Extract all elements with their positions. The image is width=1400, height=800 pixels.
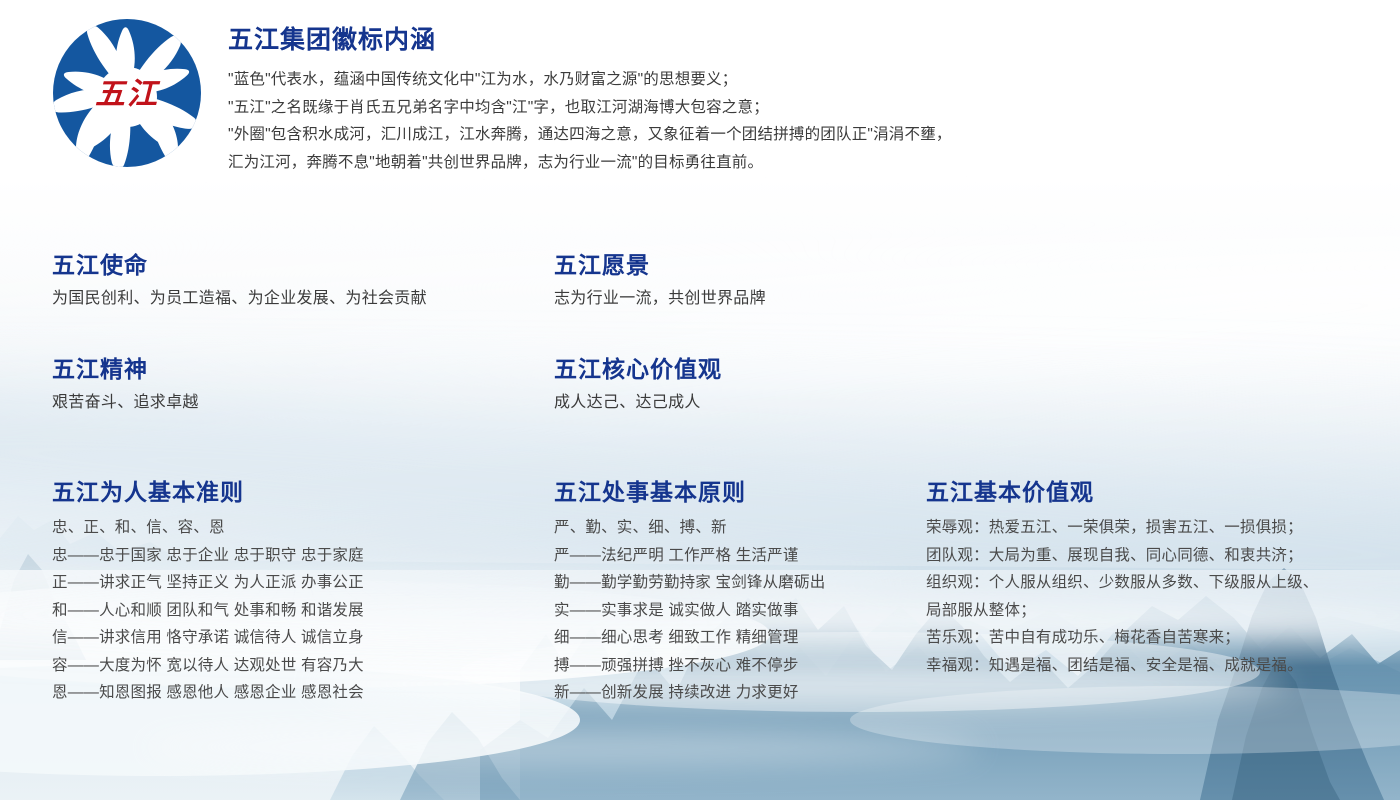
core-values-title: 五江核心价值观 [554,354,722,384]
core-values-block: 五江核心价值观 成人达己、达己成人 [554,354,722,415]
company-logo: 五江 [52,18,202,168]
column-title: 五江处事基本原则 [554,476,934,508]
column-line: 恩——知恩图报 感恩他人 感恩企业 感恩社会 [52,679,522,707]
column-line: 实——实事求是 诚实做人 踏实做事 [554,597,934,625]
vision-title: 五江愿景 [554,250,766,280]
column-line: 苦乐观：苦中自有成功乐、梅花香自苦寒来； [926,624,1386,652]
column-line: 正——讲求正气 坚持正义 为人正派 办事公正 [52,569,522,597]
page-title: 五江集团徽标内涵 [228,24,1348,56]
header-paragraph-line: 汇为江河，奔腾不息"地朝着"共创世界品牌，志为行业一流"的目标勇往直前。 [228,149,1348,177]
column-basic-values: 五江基本价值观 荣辱观：热爱五江、一荣俱荣，损害五江、一损俱损； 团队观：大局为… [926,476,1386,679]
column-line: 严——法纪严明 工作严格 生活严谨 [554,542,934,570]
column-line: 细——细心思考 细致工作 精细管理 [554,624,934,652]
mission-block: 五江使命 为国民创利、为员工造福、为企业发展、为社会贡献 [52,250,427,311]
column-line: 忠——忠于国家 忠于企业 忠于职守 忠于家庭 [52,542,522,570]
column-line: 搏——顽强拼搏 挫不灰心 难不停步 [554,652,934,680]
column-conduct-principles: 五江为人基本准则 忠、正、和、信、容、恩 忠——忠于国家 忠于企业 忠于职守 忠… [52,476,522,707]
column-line: 局部服从整体； [926,597,1386,625]
column-line: 勤——勤学勤劳勤持家 宝剑锋从磨砺出 [554,569,934,597]
logo-center-text: 五江 [95,77,161,112]
mission-body: 为国民创利、为员工造福、为企业发展、为社会贡献 [52,286,427,311]
vision-body: 志为行业一流，共创世界品牌 [554,286,766,311]
column-line: 和——人心和顺 团队和气 处事和畅 和谐发展 [52,597,522,625]
spirit-title: 五江精神 [52,354,199,384]
column-line: 忠、正、和、信、容、恩 [52,514,522,542]
mission-title: 五江使命 [52,250,427,280]
core-values-body: 成人达己、达己成人 [554,390,722,415]
header-paragraph-line: "蓝色"代表水，蕴涵中国传统文化中"江为水，水乃财富之源"的思想要义； [228,66,1348,94]
spirit-body: 艰苦奋斗、追求卓越 [52,390,199,415]
column-title: 五江为人基本准则 [52,476,522,508]
column-line: 容——大度为怀 宽以待人 达观处世 有容乃大 [52,652,522,680]
poster-content: 五江 五江集团徽标内涵 "蓝色"代表水，蕴涵中国传统文化中"江为水，水乃财富之源… [0,0,1400,800]
column-line: 团队观：大局为重、展现自我、同心同德、和衷共济； [926,542,1386,570]
column-line: 严、勤、实、细、搏、新 [554,514,934,542]
column-line: 信——讲求信用 恪守承诺 诚信待人 诚信立身 [52,624,522,652]
column-line: 荣辱观：热爱五江、一荣俱荣，损害五江、一损俱损； [926,514,1386,542]
header-paragraph-line: "外圈"包含积水成河，汇川成江，江水奔腾，通达四海之意，又象征着一个团结拼搏的团… [228,121,1348,149]
column-line: 新——创新发展 持续改进 力求更好 [554,679,934,707]
spirit-block: 五江精神 艰苦奋斗、追求卓越 [52,354,199,415]
column-title: 五江基本价值观 [926,476,1386,508]
column-working-principles: 五江处事基本原则 严、勤、实、细、搏、新 严——法纪严明 工作严格 生活严谨 勤… [554,476,934,707]
header-paragraph-line: "五江"之名既缘于肖氏五兄弟名字中均含"江"字，也取江河湖海博大包容之意； [228,94,1348,122]
culture-poster: 五江 五江集团徽标内涵 "蓝色"代表水，蕴涵中国传统文化中"江为水，水乃财富之源… [0,0,1400,800]
header-text-block: 五江集团徽标内涵 "蓝色"代表水，蕴涵中国传统文化中"江为水，水乃财富之源"的思… [228,24,1348,176]
column-line: 组织观：个人服从组织、少数服从多数、下级服从上级、 [926,569,1386,597]
column-line: 幸福观：知遇是福、团结是福、安全是福、成就是福。 [926,652,1386,680]
vision-block: 五江愿景 志为行业一流，共创世界品牌 [554,250,766,311]
